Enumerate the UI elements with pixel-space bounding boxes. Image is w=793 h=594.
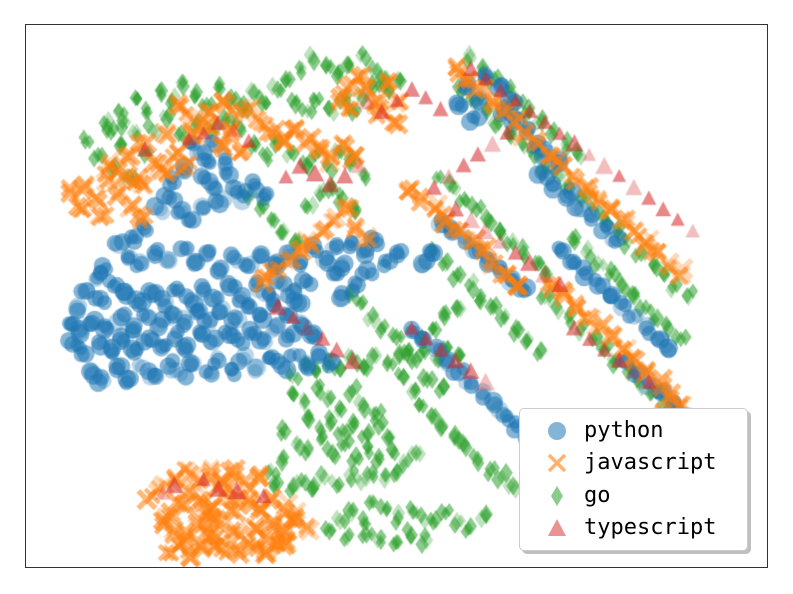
legend-label-javascript: javascript <box>584 452 716 474</box>
legend-item-go[interactable]: go <box>530 480 737 512</box>
legend-item-javascript[interactable]: javascript <box>530 447 737 479</box>
legend-box[interactable]: python javascript go <box>519 408 748 551</box>
legend-item-typescript[interactable]: typescript <box>530 512 737 544</box>
legend-label-python: python <box>584 420 663 442</box>
triangle-marker-icon <box>530 515 584 541</box>
scatter-plot-figure: python javascript go <box>0 0 793 594</box>
legend-label-go: go <box>584 485 611 507</box>
legend-item-python[interactable]: python <box>530 415 737 447</box>
circle-marker-icon <box>530 418 584 444</box>
legend-label-typescript: typescript <box>584 517 716 539</box>
x-marker-icon <box>530 450 584 476</box>
diamond-marker-icon <box>530 483 584 509</box>
